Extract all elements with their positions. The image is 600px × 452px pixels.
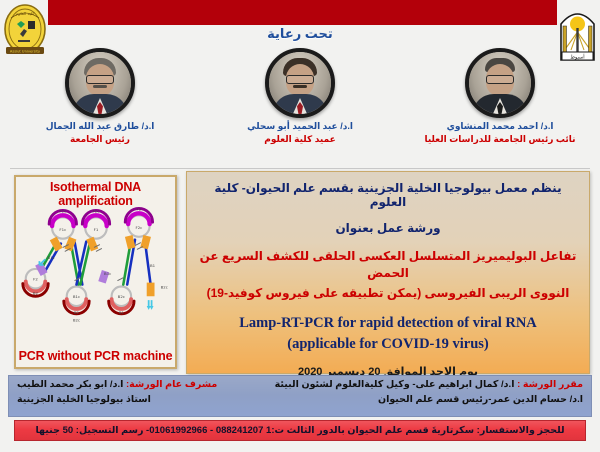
contact-footer-text: للحجز والاستفسار: سكرتاريةَ قسم علم الحي… (35, 425, 564, 436)
isothermal-dna-figure-panel: Isothermal DNA amplification (14, 175, 177, 369)
svg-text:B2: B2 (74, 310, 80, 315)
svg-text:B1: B1 (150, 263, 156, 268)
organizers-row-1: مشرف عام الورشة: ا.د/ ابو بكر محمد الطيب… (17, 378, 583, 393)
main-content-panel: ينظم معمل بيولوجيا الخلية الجزينية بقسم … (186, 171, 590, 374)
patron-name: ا.د/ طارق عبد الله الجمال (46, 121, 155, 132)
avatar (265, 48, 335, 118)
svg-text:B2c: B2c (161, 284, 168, 289)
svg-text:F2c: F2c (135, 225, 142, 230)
svg-text:F1: F1 (94, 227, 99, 232)
svg-text:B1c: B1c (73, 294, 80, 299)
supervisor-cell: مشرف عام الورشة: ا.د/ ابو بكر محمد الطيب (17, 378, 217, 393)
lamp-mechanism-diagram: F2c F2c F2 F1c F1 F2c F2 B2 B1c B2 B2c B… (16, 197, 175, 337)
svg-text:B2: B2 (33, 290, 39, 295)
patron-name: ا.د/ عبد الحميد أبو سحلي (247, 121, 353, 132)
svg-text:F2: F2 (33, 277, 38, 282)
patron-title: رئيس الجامعة (70, 134, 130, 145)
svg-text:B2c: B2c (73, 318, 80, 323)
svg-text:B1c: B1c (47, 255, 54, 260)
rapporteur-cell: مقرر الورشة : ا.د/ كمال ابراهيم على- وكي… (275, 378, 583, 393)
svg-text:B1: B1 (119, 310, 125, 315)
svg-text:F2c: F2c (59, 208, 66, 213)
svg-text:F1c: F1c (59, 227, 66, 232)
english-title-line-2: (applicable for COVID-19 virus) (195, 335, 581, 355)
rapporteur-label: مقرر الورشة : (517, 379, 583, 390)
top-red-banner (48, 0, 557, 25)
arabic-title-line-2: النووى الريبى الفيروسى (يمكن تطبيقه على … (195, 285, 581, 302)
organizers-row-2: استاذ بيولوجيا الخلية الجزينية ا.د/ حسام… (17, 393, 583, 408)
organizer-line: ينظم معمل بيولوجيا الخلية الجزينية بقسم … (195, 181, 581, 209)
svg-text:F2: F2 (137, 206, 142, 211)
svg-text:F2c: F2c (93, 208, 100, 213)
svg-text:كلية العلوم: كلية العلوم (16, 11, 35, 16)
english-title-line-1: Lamp-RT-PCR for rapid detection of viral… (195, 314, 581, 334)
patron-name: ا.د/ احمد محمد المنشاوي (447, 121, 554, 132)
svg-text:B1c: B1c (104, 271, 111, 276)
divider (10, 168, 590, 169)
under-patronage-heading: تحت رعاية (0, 26, 600, 42)
patron-title: نائب رئيس الجامعة للدراسات العليا (424, 134, 575, 145)
organizers-band: مشرف عام الورشة: ا.د/ ابو بكر محمد الطيب… (8, 375, 592, 417)
supervisor-title: استاذ بيولوجيا الخلية الجزينية (17, 393, 151, 408)
workshop-poster: كلية العلوم Assiut University أس (0, 0, 600, 452)
rapporteur-name: ا.د/ كمال ابراهيم على- وكيل كليةالعلوم ل… (275, 379, 515, 390)
figure-footer-caption: PCR without PCR machine (16, 349, 175, 363)
svg-text:B2c: B2c (118, 294, 125, 299)
rapporteur-name-2: ا.د/ حسام الدين عمر-رئيس قسم علم الحيوان (378, 393, 583, 408)
supervisor-label: مشرف عام الورشة: (126, 379, 217, 390)
patron-title: عميد كلية العلوم (264, 134, 336, 145)
supervisor-name: ا.د/ ابو بكر محمد الطيب (17, 379, 123, 390)
workshop-line: ورشة عمل بعنوان (195, 221, 581, 235)
patron-card-2: ا.د/ احمد محمد المنشاوي نائب رئيس الجامع… (410, 48, 590, 145)
patrons-row: ا.د/ طارق عبد الله الجمال رئيس الجامعة ا… (0, 48, 600, 160)
arabic-title-line-1: تفاعل البوليميريز المتسلسل العكسى الحلقى… (195, 248, 581, 283)
contact-footer-bar: للحجز والاستفسار: سكرتاريةَ قسم علم الحي… (14, 420, 586, 441)
patron-card-1: ا.د/ طارق عبد الله الجمال رئيس الجامعة (10, 48, 190, 145)
patron-card-0: ا.د/ عبد الحميد أبو سحلي عميد كلية العلو… (210, 48, 390, 145)
avatar (465, 48, 535, 118)
avatar (65, 48, 135, 118)
